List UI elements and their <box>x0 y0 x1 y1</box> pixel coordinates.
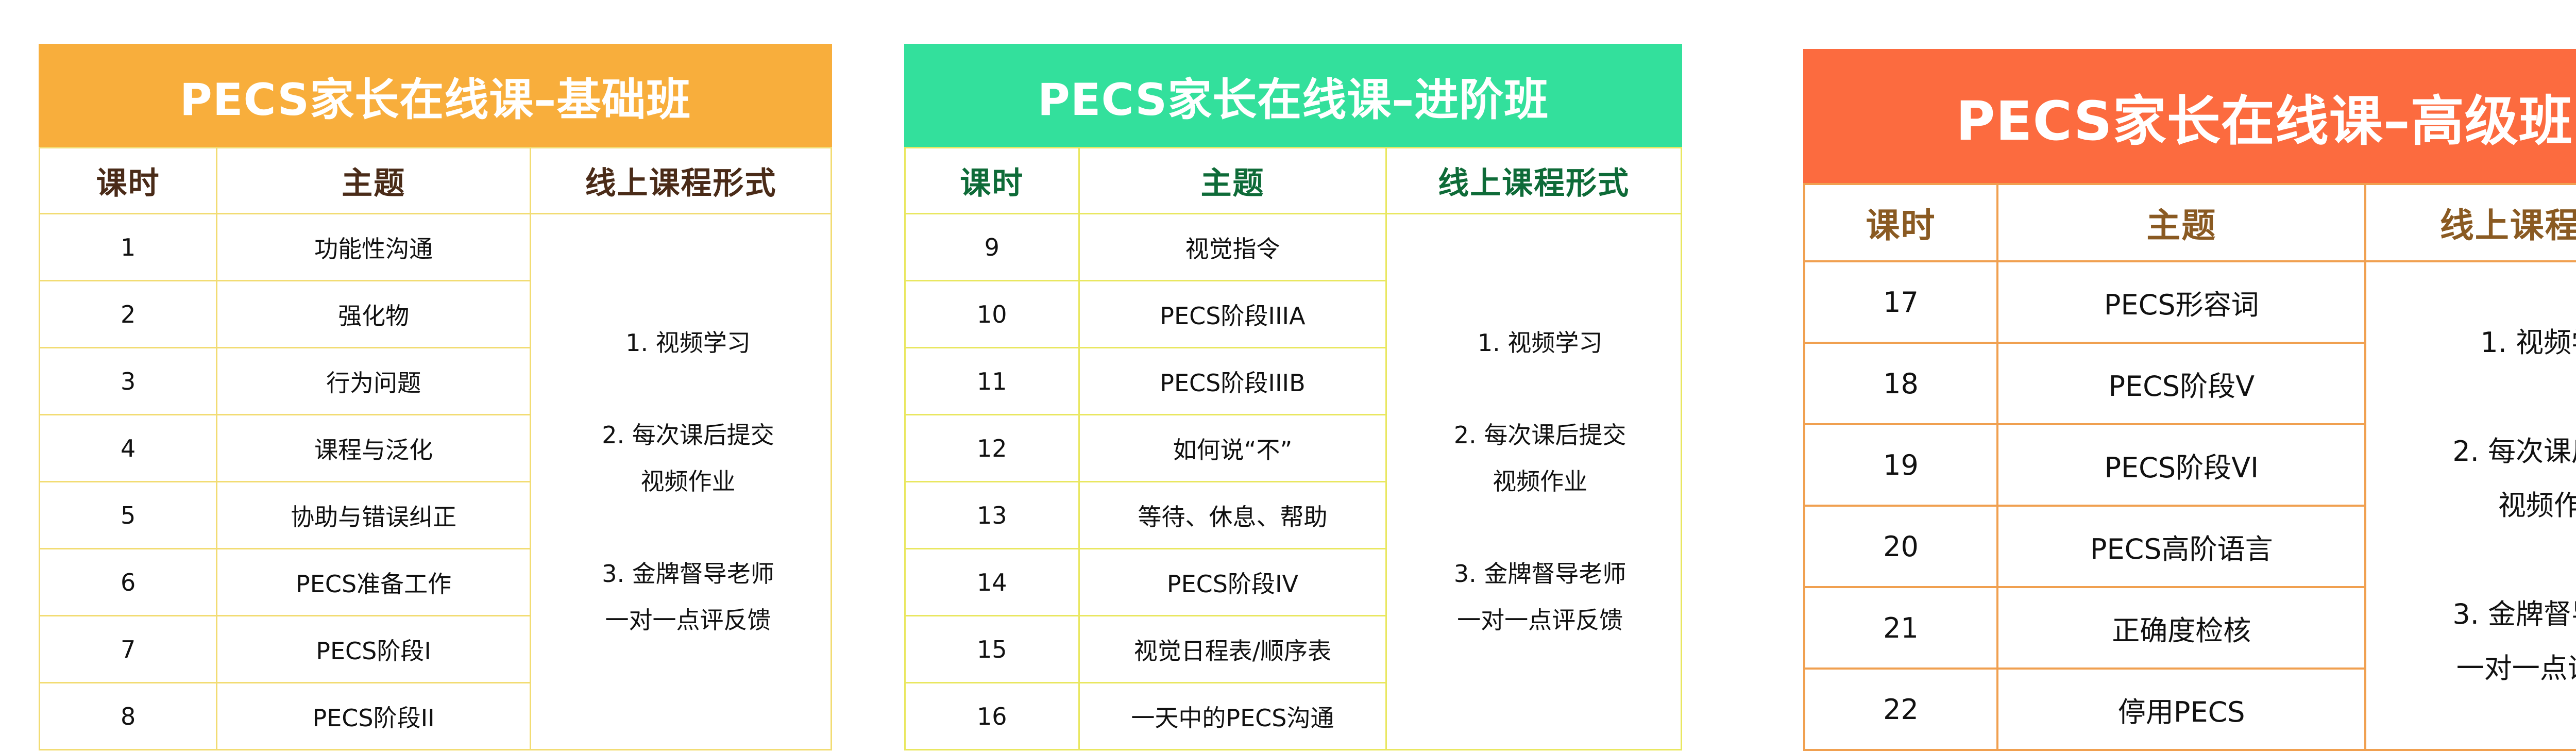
column-header-row: 课时 主题 线上课程形式 <box>40 148 832 214</box>
cell-topic: 等待、休息、帮助 <box>1079 482 1386 549</box>
cell-course-format: 1. 视频学习 2. 每次课后提交 视频作业 3. 金牌督导老师 一对一点评反馈 <box>1386 214 1682 750</box>
cell-session: 7 <box>40 616 217 683</box>
cell-topic: PECS阶段II <box>217 683 531 750</box>
cell-topic: 课程与泛化 <box>217 415 531 482</box>
cell-session: 22 <box>1804 669 1997 750</box>
column-header-format: 线上课程形式 <box>530 148 831 214</box>
cell-topic: PECS阶段IIIA <box>1079 281 1386 348</box>
column-header-row: 课时 主题 线上课程形式 <box>905 148 1682 214</box>
cell-session: 6 <box>40 549 217 616</box>
cell-session: 17 <box>1804 261 1997 343</box>
cell-session: 15 <box>905 616 1079 683</box>
cell-session: 18 <box>1804 343 1997 424</box>
column-header-session: 课时 <box>905 148 1079 214</box>
column-header-topic: 主题 <box>1997 184 2365 261</box>
cell-session: 4 <box>40 415 217 482</box>
cell-session: 21 <box>1804 587 1997 669</box>
cell-topic: PECS阶段IIIB <box>1079 348 1386 415</box>
course-table-advanced: 课时 主题 线上课程形式 9 视觉指令 1. 视频学习 2. 每次课后提交 视频… <box>904 147 1682 750</box>
table-head-advanced: 课时 主题 线上课程形式 <box>905 148 1682 214</box>
cell-topic: PECS准备工作 <box>217 549 531 616</box>
table-row: 1 功能性沟通 1. 视频学习 2. 每次课后提交 视频作业 3. 金牌督导老师… <box>40 214 832 281</box>
table-body-advanced: 9 视觉指令 1. 视频学习 2. 每次课后提交 视频作业 3. 金牌督导老师 … <box>905 214 1682 750</box>
cell-session: 20 <box>1804 506 1997 587</box>
cell-topic: 停用PECS <box>1997 669 2365 750</box>
cell-session: 9 <box>905 214 1079 281</box>
cell-topic: 一天中的PECS沟通 <box>1079 683 1386 750</box>
table-row: 17 PECS形容词 1. 视频学习 2. 每次课后提交 视频作业 3. 金牌督… <box>1804 261 2576 343</box>
column-header-topic: 主题 <box>1079 148 1386 214</box>
column-header-session: 课时 <box>1804 184 1997 261</box>
table-head-expert: 课时 主题 线上课程形式 <box>1804 184 2576 261</box>
course-card-basic: PECS家长在线课–基础班 课时 主题 线上课程形式 1 功能性沟通 1. 视频… <box>39 44 832 750</box>
card-title-expert: PECS家长在线课–高级班 <box>1803 49 2576 183</box>
cell-course-format: 1. 视频学习 2. 每次课后提交 视频作业 3. 金牌督导老师 一对一点评反馈 <box>2365 261 2576 750</box>
cell-session: 19 <box>1804 424 1997 506</box>
cell-topic: 如何说“不” <box>1079 415 1386 482</box>
cell-session: 10 <box>905 281 1079 348</box>
table-body-basic: 1 功能性沟通 1. 视频学习 2. 每次课后提交 视频作业 3. 金牌督导老师… <box>40 214 832 750</box>
table-body-expert: 17 PECS形容词 1. 视频学习 2. 每次课后提交 视频作业 3. 金牌督… <box>1804 261 2576 750</box>
cell-topic: 正确度检核 <box>1997 587 2365 669</box>
cell-course-format: 1. 视频学习 2. 每次课后提交 视频作业 3. 金牌督导老师 一对一点评反馈 <box>530 214 831 750</box>
course-table-expert: 课时 主题 线上课程形式 17 PECS形容词 1. 视频学习 2. 每次课后提… <box>1803 183 2576 751</box>
cell-topic: 行为问题 <box>217 348 531 415</box>
table-head-basic: 课时 主题 线上课程形式 <box>40 148 832 214</box>
cell-topic: PECS阶段IV <box>1079 549 1386 616</box>
cell-session: 1 <box>40 214 217 281</box>
cell-session: 3 <box>40 348 217 415</box>
column-header-format: 线上课程形式 <box>1386 148 1682 214</box>
course-schedule-board: PECS家长在线课–基础班 课时 主题 线上课程形式 1 功能性沟通 1. 视频… <box>0 0 2576 745</box>
cell-topic: PECS阶段VI <box>1997 424 2365 506</box>
cell-topic: 协助与错误纠正 <box>217 482 531 549</box>
cell-topic: 强化物 <box>217 281 531 348</box>
column-header-topic: 主题 <box>217 148 531 214</box>
column-header-session: 课时 <box>40 148 217 214</box>
cell-session: 5 <box>40 482 217 549</box>
cell-session: 11 <box>905 348 1079 415</box>
cell-topic: PECS形容词 <box>1997 261 2365 343</box>
table-row: 9 视觉指令 1. 视频学习 2. 每次课后提交 视频作业 3. 金牌督导老师 … <box>905 214 1682 281</box>
cell-topic: PECS阶段I <box>217 616 531 683</box>
cell-session: 14 <box>905 549 1079 616</box>
cell-topic: PECS阶段V <box>1997 343 2365 424</box>
cell-topic: PECS高阶语言 <box>1997 506 2365 587</box>
cell-topic: 视觉日程表/顺序表 <box>1079 616 1386 683</box>
card-title-basic: PECS家长在线课–基础班 <box>39 44 832 147</box>
column-header-row: 课时 主题 线上课程形式 <box>1804 184 2576 261</box>
cell-session: 8 <box>40 683 217 750</box>
course-card-expert: PECS家长在线课–高级班 课时 主题 线上课程形式 17 PECS形容词 1.… <box>1803 49 2576 751</box>
cell-session: 12 <box>905 415 1079 482</box>
cell-topic: 视觉指令 <box>1079 214 1386 281</box>
cell-topic: 功能性沟通 <box>217 214 531 281</box>
cell-session: 13 <box>905 482 1079 549</box>
course-card-advanced: PECS家长在线课–进阶班 课时 主题 线上课程形式 9 视觉指令 1. 视频学… <box>904 44 1682 750</box>
card-title-advanced: PECS家长在线课–进阶班 <box>904 44 1682 147</box>
cell-session: 16 <box>905 683 1079 750</box>
course-table-basic: 课时 主题 线上课程形式 1 功能性沟通 1. 视频学习 2. 每次课后提交 视… <box>39 147 832 750</box>
cell-session: 2 <box>40 281 217 348</box>
column-header-format: 线上课程形式 <box>2365 184 2576 261</box>
